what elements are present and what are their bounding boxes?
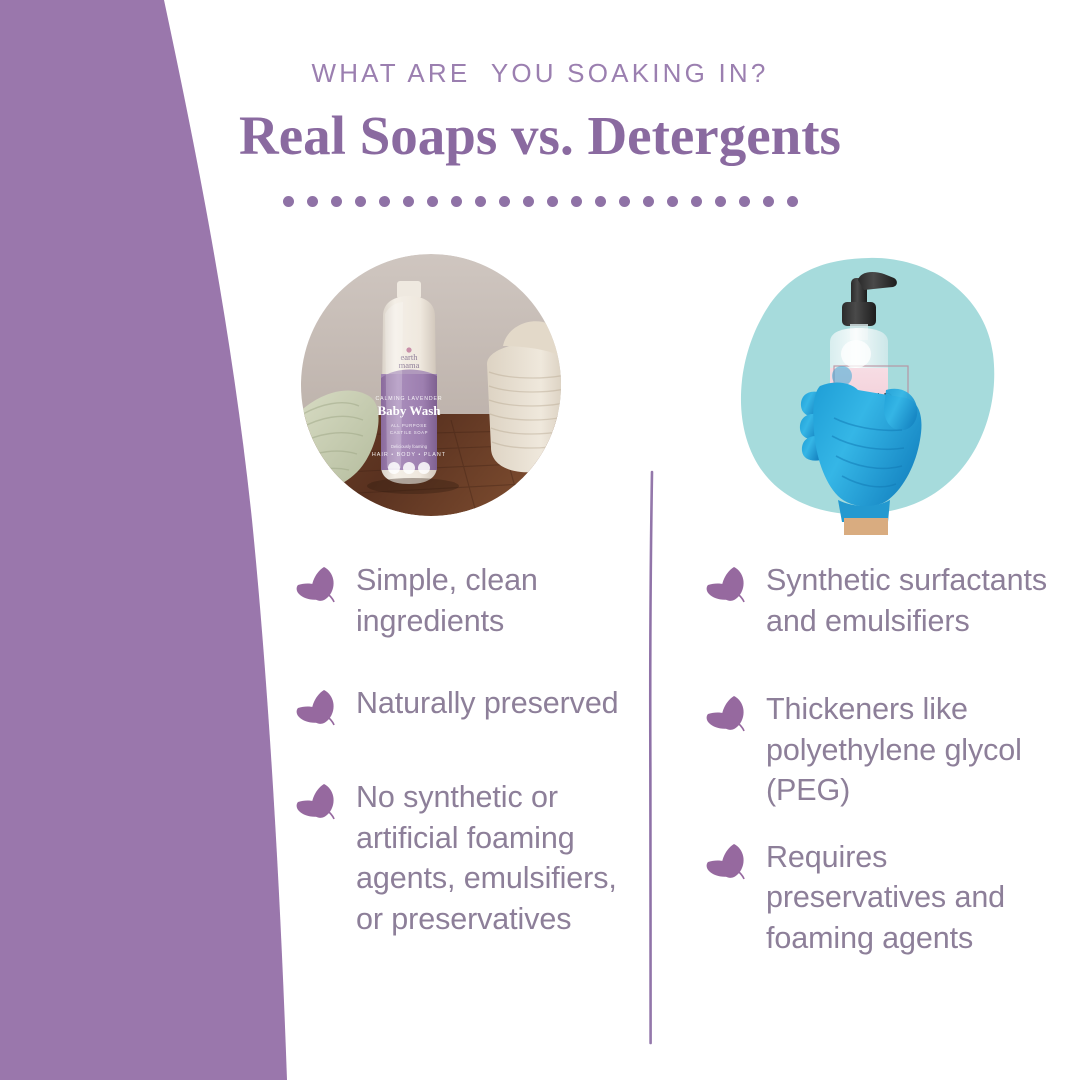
divider-dot xyxy=(355,196,366,207)
divider-dot xyxy=(691,196,702,207)
divider-dot xyxy=(667,196,678,207)
list-item-label: Naturally preserved xyxy=(356,683,631,724)
leaf-sprig-icon xyxy=(296,687,342,731)
list-item: No synthetic or artificial foaming agent… xyxy=(296,777,636,939)
forearm xyxy=(844,518,888,535)
leaf-sprig-icon xyxy=(706,841,752,885)
column-real-soaps: Simple, clean ingredients Naturally pres… xyxy=(296,560,636,981)
eyebrow-text: WHAT ARE YOU SOAKING IN? xyxy=(0,58,1080,89)
leaf-sprig-icon xyxy=(296,564,342,608)
divider-dot xyxy=(403,196,414,207)
divider-dot xyxy=(451,196,462,207)
divider-dot xyxy=(475,196,486,207)
leaf-sprig-icon xyxy=(706,693,752,737)
divider-dot xyxy=(307,196,318,207)
divider-dot xyxy=(787,196,798,207)
list-item-label: Synthetic surfactants and emulsifiers xyxy=(766,560,1066,641)
divider-dot xyxy=(379,196,390,207)
vertical-brushstroke-divider xyxy=(636,470,668,1045)
list-item-label: Requires preservatives and foaming agent… xyxy=(766,837,1066,959)
list-item: Synthetic surfactants and emulsifiers xyxy=(706,560,1068,641)
divider-dot xyxy=(571,196,582,207)
divider-dot xyxy=(523,196,534,207)
divider-dot xyxy=(427,196,438,207)
page-title: Real Soaps vs. Detergents xyxy=(0,104,1080,167)
divider-dot xyxy=(715,196,726,207)
column-detergents: Synthetic surfactants and emulsifiers Th… xyxy=(706,560,1068,1007)
divider-dot xyxy=(619,196,630,207)
leaf-sprig-icon xyxy=(706,564,752,608)
real-soap-photo-svg: earth mama CALMING LAVENDER Baby Wash AL… xyxy=(301,254,561,516)
real-soap-photo: earth mama CALMING LAVENDER Baby Wash AL… xyxy=(301,254,561,516)
detergent-photo: HAND SOAP xyxy=(738,250,1003,535)
leaf-sprig-icon xyxy=(296,781,342,825)
list-item-label: No synthetic or artificial foaming agent… xyxy=(356,777,631,939)
divider-dot xyxy=(283,196,294,207)
list-item-label: Thickeners like polyethylene glycol (PEG… xyxy=(766,689,1066,811)
svg-text:CALMING LAVENDER: CALMING LAVENDER xyxy=(375,396,442,402)
divider-dot xyxy=(643,196,654,207)
divider-dot xyxy=(499,196,510,207)
detergent-photo-svg: HAND SOAP xyxy=(738,250,1003,535)
list-item: Simple, clean ingredients xyxy=(296,560,636,641)
infographic-canvas: WHAT ARE YOU SOAKING IN? Real Soaps vs. … xyxy=(0,0,1080,1080)
dotted-divider xyxy=(0,196,1080,207)
list-item: Naturally preserved xyxy=(296,683,636,731)
divider-dot xyxy=(763,196,774,207)
divider-dot xyxy=(739,196,750,207)
divider-dot xyxy=(595,196,606,207)
list-item: Requires preservatives and foaming agent… xyxy=(706,837,1068,959)
list-item-label: Simple, clean ingredients xyxy=(356,560,631,641)
svg-text:HAIR • BODY • PLANT: HAIR • BODY • PLANT xyxy=(372,452,446,458)
divider-dot xyxy=(547,196,558,207)
divider-dot xyxy=(331,196,342,207)
list-item: Thickeners like polyethylene glycol (PEG… xyxy=(706,689,1068,811)
